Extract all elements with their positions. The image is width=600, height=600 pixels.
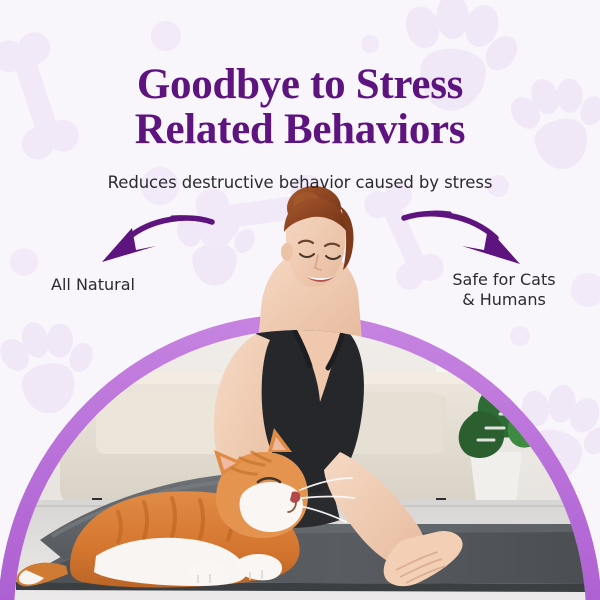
subtitle: Reduces destructive behavior caused by s… — [0, 173, 600, 192]
headline-line-1: Goodbye to Stress — [137, 61, 463, 108]
curved-arrow-down-right-icon — [400, 206, 530, 279]
photo-person-head-above-arch — [258, 186, 362, 340]
curved-arrow-down-left-icon — [86, 212, 216, 279]
callout-safe-for-cats-humans: Safe for Cats & Humans — [408, 270, 600, 311]
promo-banner: Goodbye to Stress Related Behaviors Redu… — [0, 0, 600, 600]
callout-all-natural: All Natural — [0, 275, 186, 295]
page-title: Goodbye to Stress Related Behaviors — [0, 63, 600, 152]
headline-line-2: Related Behaviors — [0, 108, 600, 153]
